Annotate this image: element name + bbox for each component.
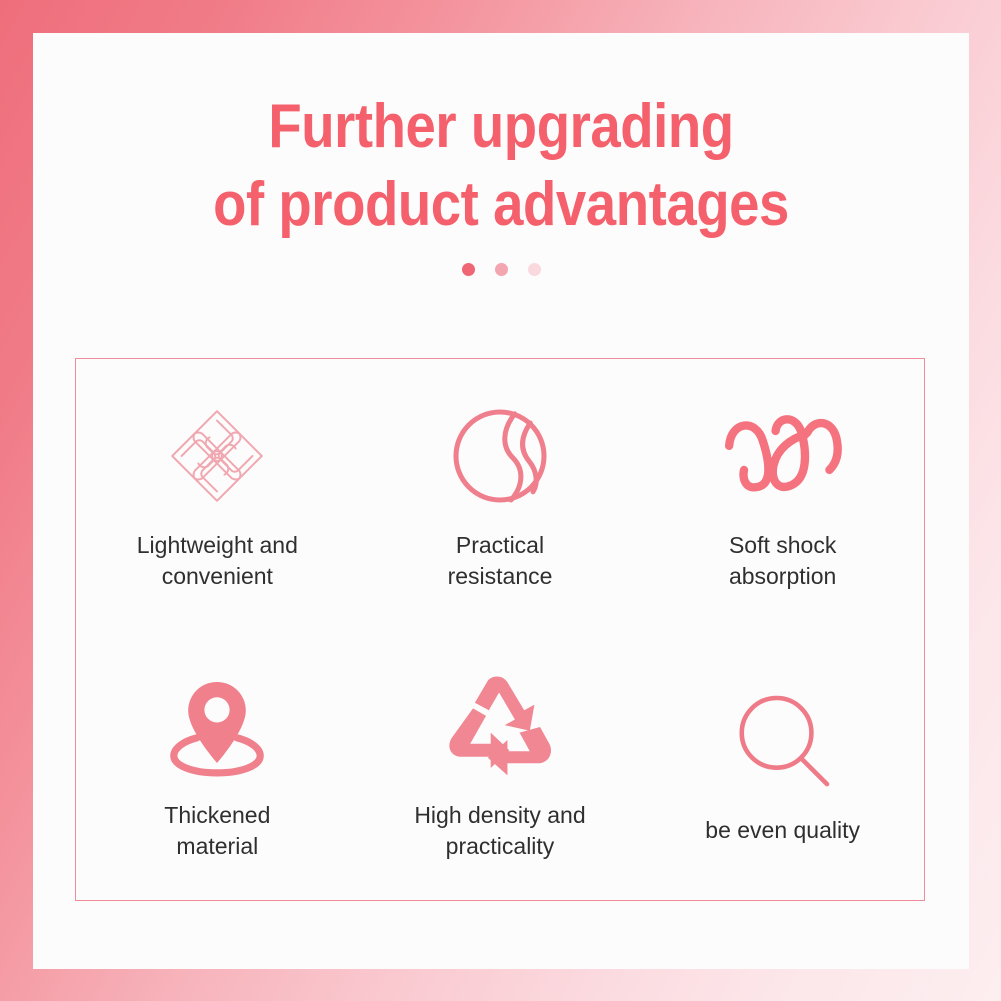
white-card: Further upgrading of product advantages	[33, 33, 969, 969]
feature-item-lightweight: Lightweight and convenient	[76, 396, 359, 592]
feature-frame: Lightweight and convenient Practi	[75, 358, 925, 901]
feature-label: Soft shock absorption	[729, 530, 836, 592]
feature-item-practical-resistance: Practical resistance	[359, 396, 642, 592]
carousel-dots[interactable]	[33, 263, 969, 276]
feature-label: High density and practicality	[414, 800, 585, 862]
feature-item-even-quality: be even quality	[641, 683, 924, 846]
page-title: Further upgrading of product advantages	[33, 88, 969, 244]
feature-label: Practical resistance	[448, 530, 553, 592]
carousel-dot-3[interactable]	[528, 263, 541, 276]
location-pin-icon	[152, 668, 282, 786]
tennis-ball-icon	[435, 396, 565, 516]
magnifier-icon	[718, 683, 848, 801]
feature-label: be even quality	[705, 815, 860, 846]
feature-item-soft-shock: Soft shock absorption	[641, 396, 924, 592]
recycle-icon	[435, 668, 565, 786]
four-petal-knot-icon	[152, 396, 282, 516]
feature-grid: Lightweight and convenient Practi	[76, 359, 924, 900]
carousel-dot-1[interactable]	[462, 263, 475, 276]
spring-coil-icon	[718, 396, 848, 516]
feature-label: Lightweight and convenient	[137, 530, 298, 592]
poster-root: Further upgrading of product advantages	[0, 0, 1001, 1001]
feature-item-thickened-material: Thickened material	[76, 668, 359, 862]
title-line-1: Further upgrading	[89, 88, 913, 166]
carousel-dot-2[interactable]	[495, 263, 508, 276]
feature-item-high-density: High density and practicality	[359, 668, 642, 862]
title-line-2: of product advantages	[89, 166, 913, 244]
feature-label: Thickened material	[164, 800, 270, 862]
